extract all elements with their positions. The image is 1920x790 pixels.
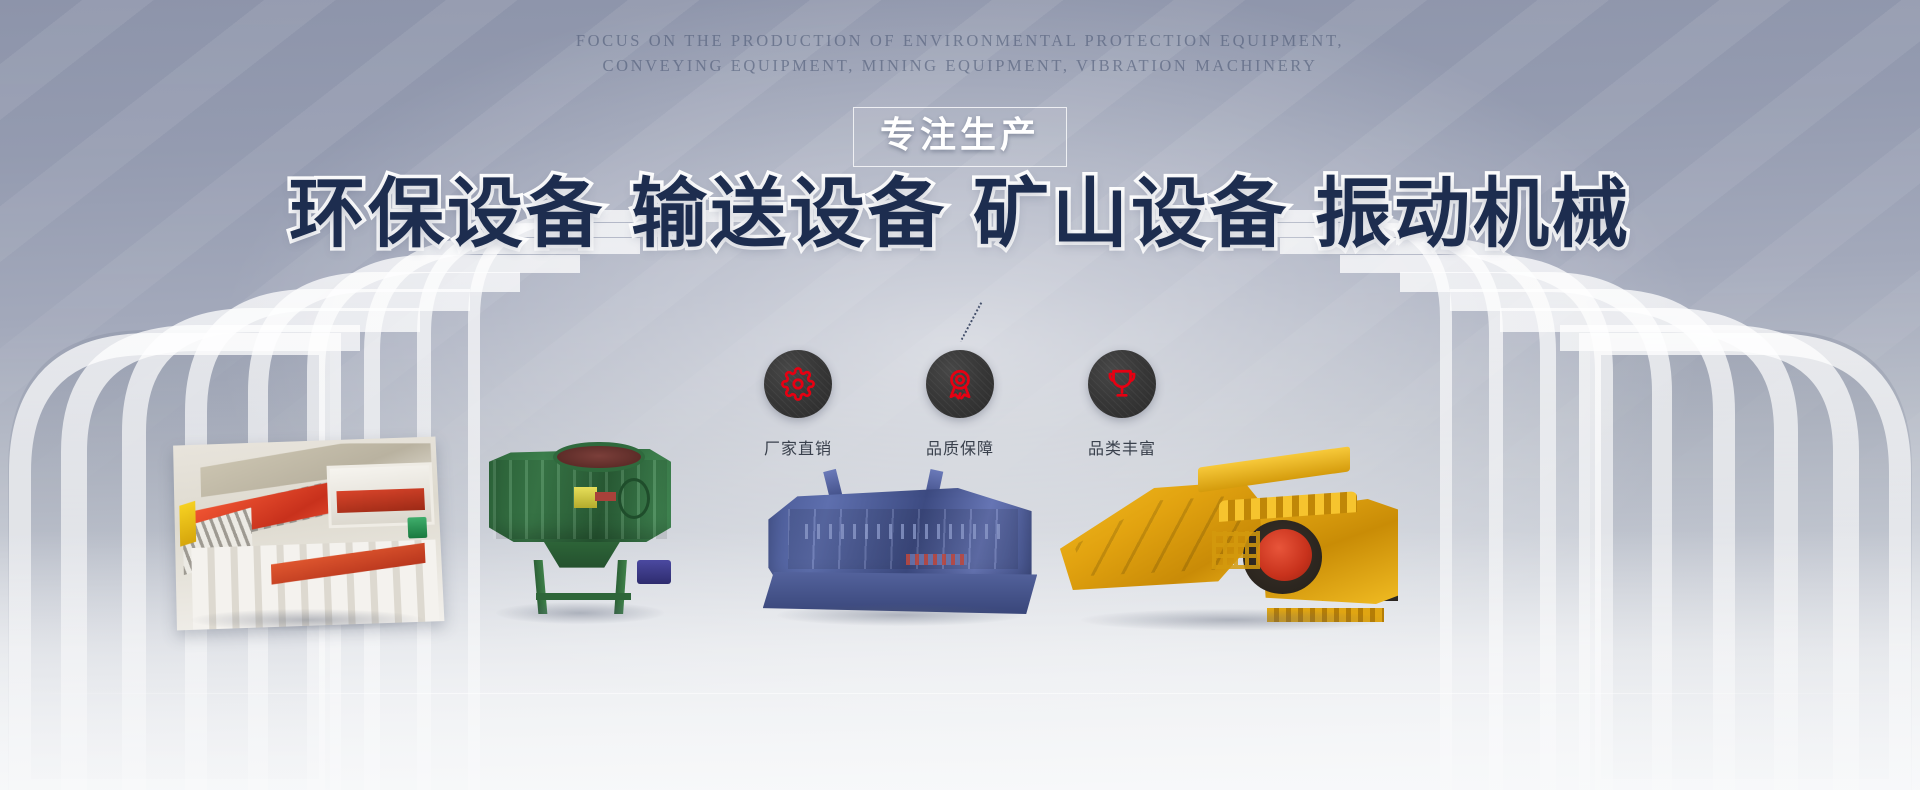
headline-item-1: 环保设备 (289, 169, 605, 258)
product-image-environmental-protection-separator[interactable] (175, 440, 440, 625)
feature-icon-circle (926, 350, 994, 418)
feature-label: 品质保障 (926, 435, 994, 459)
feature-item-quality-assurance[interactable]: 品质保障 (910, 350, 1010, 459)
product-image-yellow-jaw-crusher[interactable] (1060, 450, 1405, 625)
medal-icon (943, 367, 977, 401)
feature-icon-circle (764, 350, 832, 418)
english-tagline: FOCUS ON THE PRODUCTION OF ENVIRONMENTAL… (0, 28, 1920, 78)
feature-icon-circle (1088, 350, 1156, 418)
trophy-icon (1105, 367, 1139, 401)
page-title: 环保设备输送设备矿山设备振动机械 (0, 168, 1920, 260)
product-image-blue-vibrating-screen[interactable] (760, 470, 1040, 620)
decorative-slash-icon (960, 302, 982, 342)
product-shadow (1081, 609, 1385, 631)
product-shadow (777, 604, 1023, 626)
product-shadow (496, 602, 663, 624)
headline-item-4: 振动机械 (1315, 169, 1631, 258)
headline-item-3: 矿山设备 (973, 169, 1289, 258)
headline-item-2: 输送设备 (631, 169, 947, 258)
feature-item-rich-variety[interactable]: 品类丰富 (1072, 350, 1172, 459)
feature-list: 厂家直销 品质保障 (748, 350, 1172, 459)
product-image-green-disc-feeder[interactable] (485, 438, 675, 618)
floor-seam-line (0, 693, 1920, 694)
english-tagline-line-2: CONVEYING EQUIPMENT, MINING EQUIPMENT, V… (603, 56, 1318, 75)
english-tagline-line-1: FOCUS ON THE PRODUCTION OF ENVIRONMENTAL… (576, 31, 1344, 50)
feature-label: 厂家直销 (764, 435, 832, 459)
product-photo (173, 437, 444, 631)
product-shadow (191, 609, 424, 631)
feature-label: 品类丰富 (1088, 435, 1156, 459)
hero-banner: FOCUS ON THE PRODUCTION OF ENVIRONMENTAL… (0, 0, 1920, 790)
focus-production-badge: 专注生产 (853, 107, 1067, 167)
feature-item-factory-direct[interactable]: 厂家直销 (748, 350, 848, 459)
gear-icon (781, 367, 815, 401)
focus-production-badge-label: 专注生产 (880, 116, 1040, 156)
